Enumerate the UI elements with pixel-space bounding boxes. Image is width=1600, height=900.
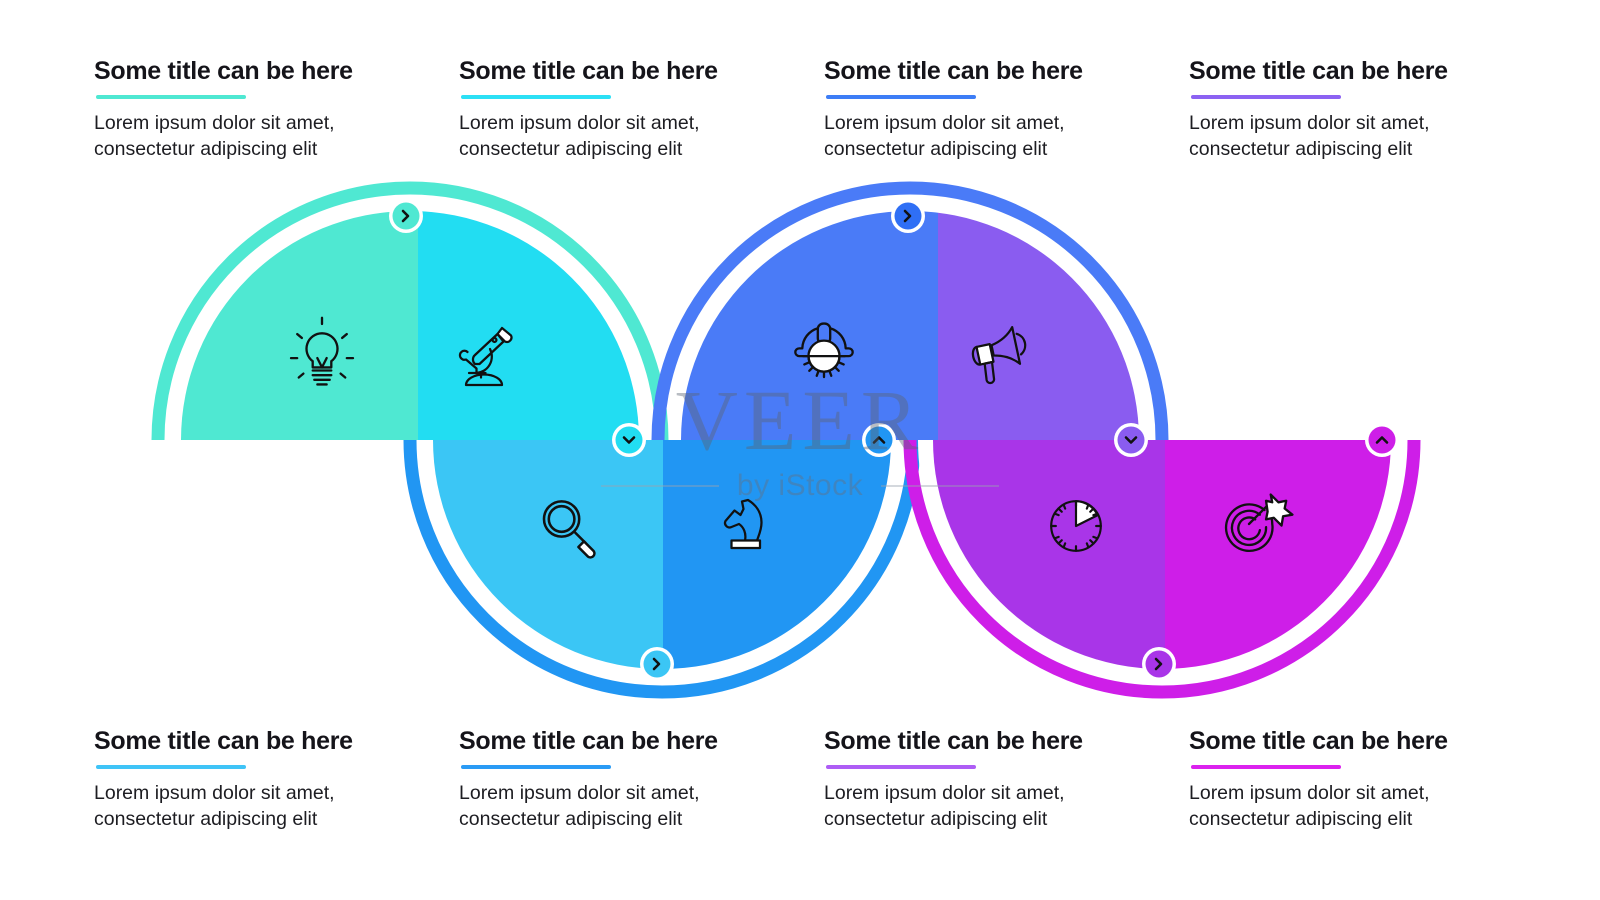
- title-top-1: Some title can be here: [94, 58, 394, 86]
- body-bottom-3: Lorem ipsum dolor sit amet, consectetur …: [824, 780, 1124, 833]
- text-block-bottom-4: Some title can be here Lorem ipsum dolor…: [1189, 728, 1489, 832]
- text-block-top-2: Some title can be here Lorem ipsum dolor…: [459, 58, 759, 162]
- title-top-4: Some title can be here: [1189, 58, 1489, 86]
- title-bottom-4: Some title can be here: [1189, 728, 1489, 756]
- body-bottom-4: Lorem ipsum dolor sit amet, consectetur …: [1189, 780, 1489, 833]
- title-top-3: Some title can be here: [824, 58, 1124, 86]
- infographic-canvas: VEER by iStock Some title can be here Lo…: [0, 0, 1600, 900]
- connector-5[interactable]: [891, 199, 925, 233]
- accent-rule-bottom-2: [461, 765, 611, 769]
- connector-8[interactable]: [1365, 423, 1399, 457]
- text-block-bottom-1: Some title can be here Lorem ipsum dolor…: [94, 728, 394, 832]
- title-bottom-3: Some title can be here: [824, 728, 1124, 756]
- text-block-bottom-2: Some title can be here Lorem ipsum dolor…: [459, 728, 759, 832]
- connector-1[interactable]: [389, 199, 423, 233]
- text-block-bottom-3: Some title can be here Lorem ipsum dolor…: [824, 728, 1124, 832]
- title-bottom-2: Some title can be here: [459, 728, 759, 756]
- text-block-top-4: Some title can be here Lorem ipsum dolor…: [1189, 58, 1489, 162]
- body-top-3: Lorem ipsum dolor sit amet, consectetur …: [824, 110, 1124, 163]
- body-top-2: Lorem ipsum dolor sit amet, consectetur …: [459, 110, 759, 163]
- accent-rule-bottom-3: [826, 765, 976, 769]
- connector-4[interactable]: [862, 423, 896, 457]
- accent-rule-bottom-4: [1191, 765, 1341, 769]
- connector-3[interactable]: [640, 647, 674, 681]
- body-top-1: Lorem ipsum dolor sit amet, consectetur …: [94, 110, 394, 163]
- accent-rule-top-2: [461, 95, 611, 99]
- accent-rule-top-3: [826, 95, 976, 99]
- connector-2[interactable]: [612, 423, 646, 457]
- accent-rule-top-4: [1191, 95, 1341, 99]
- accent-rule-top-1: [96, 95, 246, 99]
- accent-rule-bottom-1: [96, 765, 246, 769]
- title-top-2: Some title can be here: [459, 58, 759, 86]
- connector-7[interactable]: [1142, 647, 1176, 681]
- body-bottom-1: Lorem ipsum dolor sit amet, consectetur …: [94, 780, 394, 833]
- text-block-top-1: Some title can be here Lorem ipsum dolor…: [94, 58, 394, 162]
- title-bottom-1: Some title can be here: [94, 728, 394, 756]
- body-bottom-2: Lorem ipsum dolor sit amet, consectetur …: [459, 780, 759, 833]
- body-top-4: Lorem ipsum dolor sit amet, consectetur …: [1189, 110, 1489, 163]
- text-block-top-3: Some title can be here Lorem ipsum dolor…: [824, 58, 1124, 162]
- connector-6[interactable]: [1114, 423, 1148, 457]
